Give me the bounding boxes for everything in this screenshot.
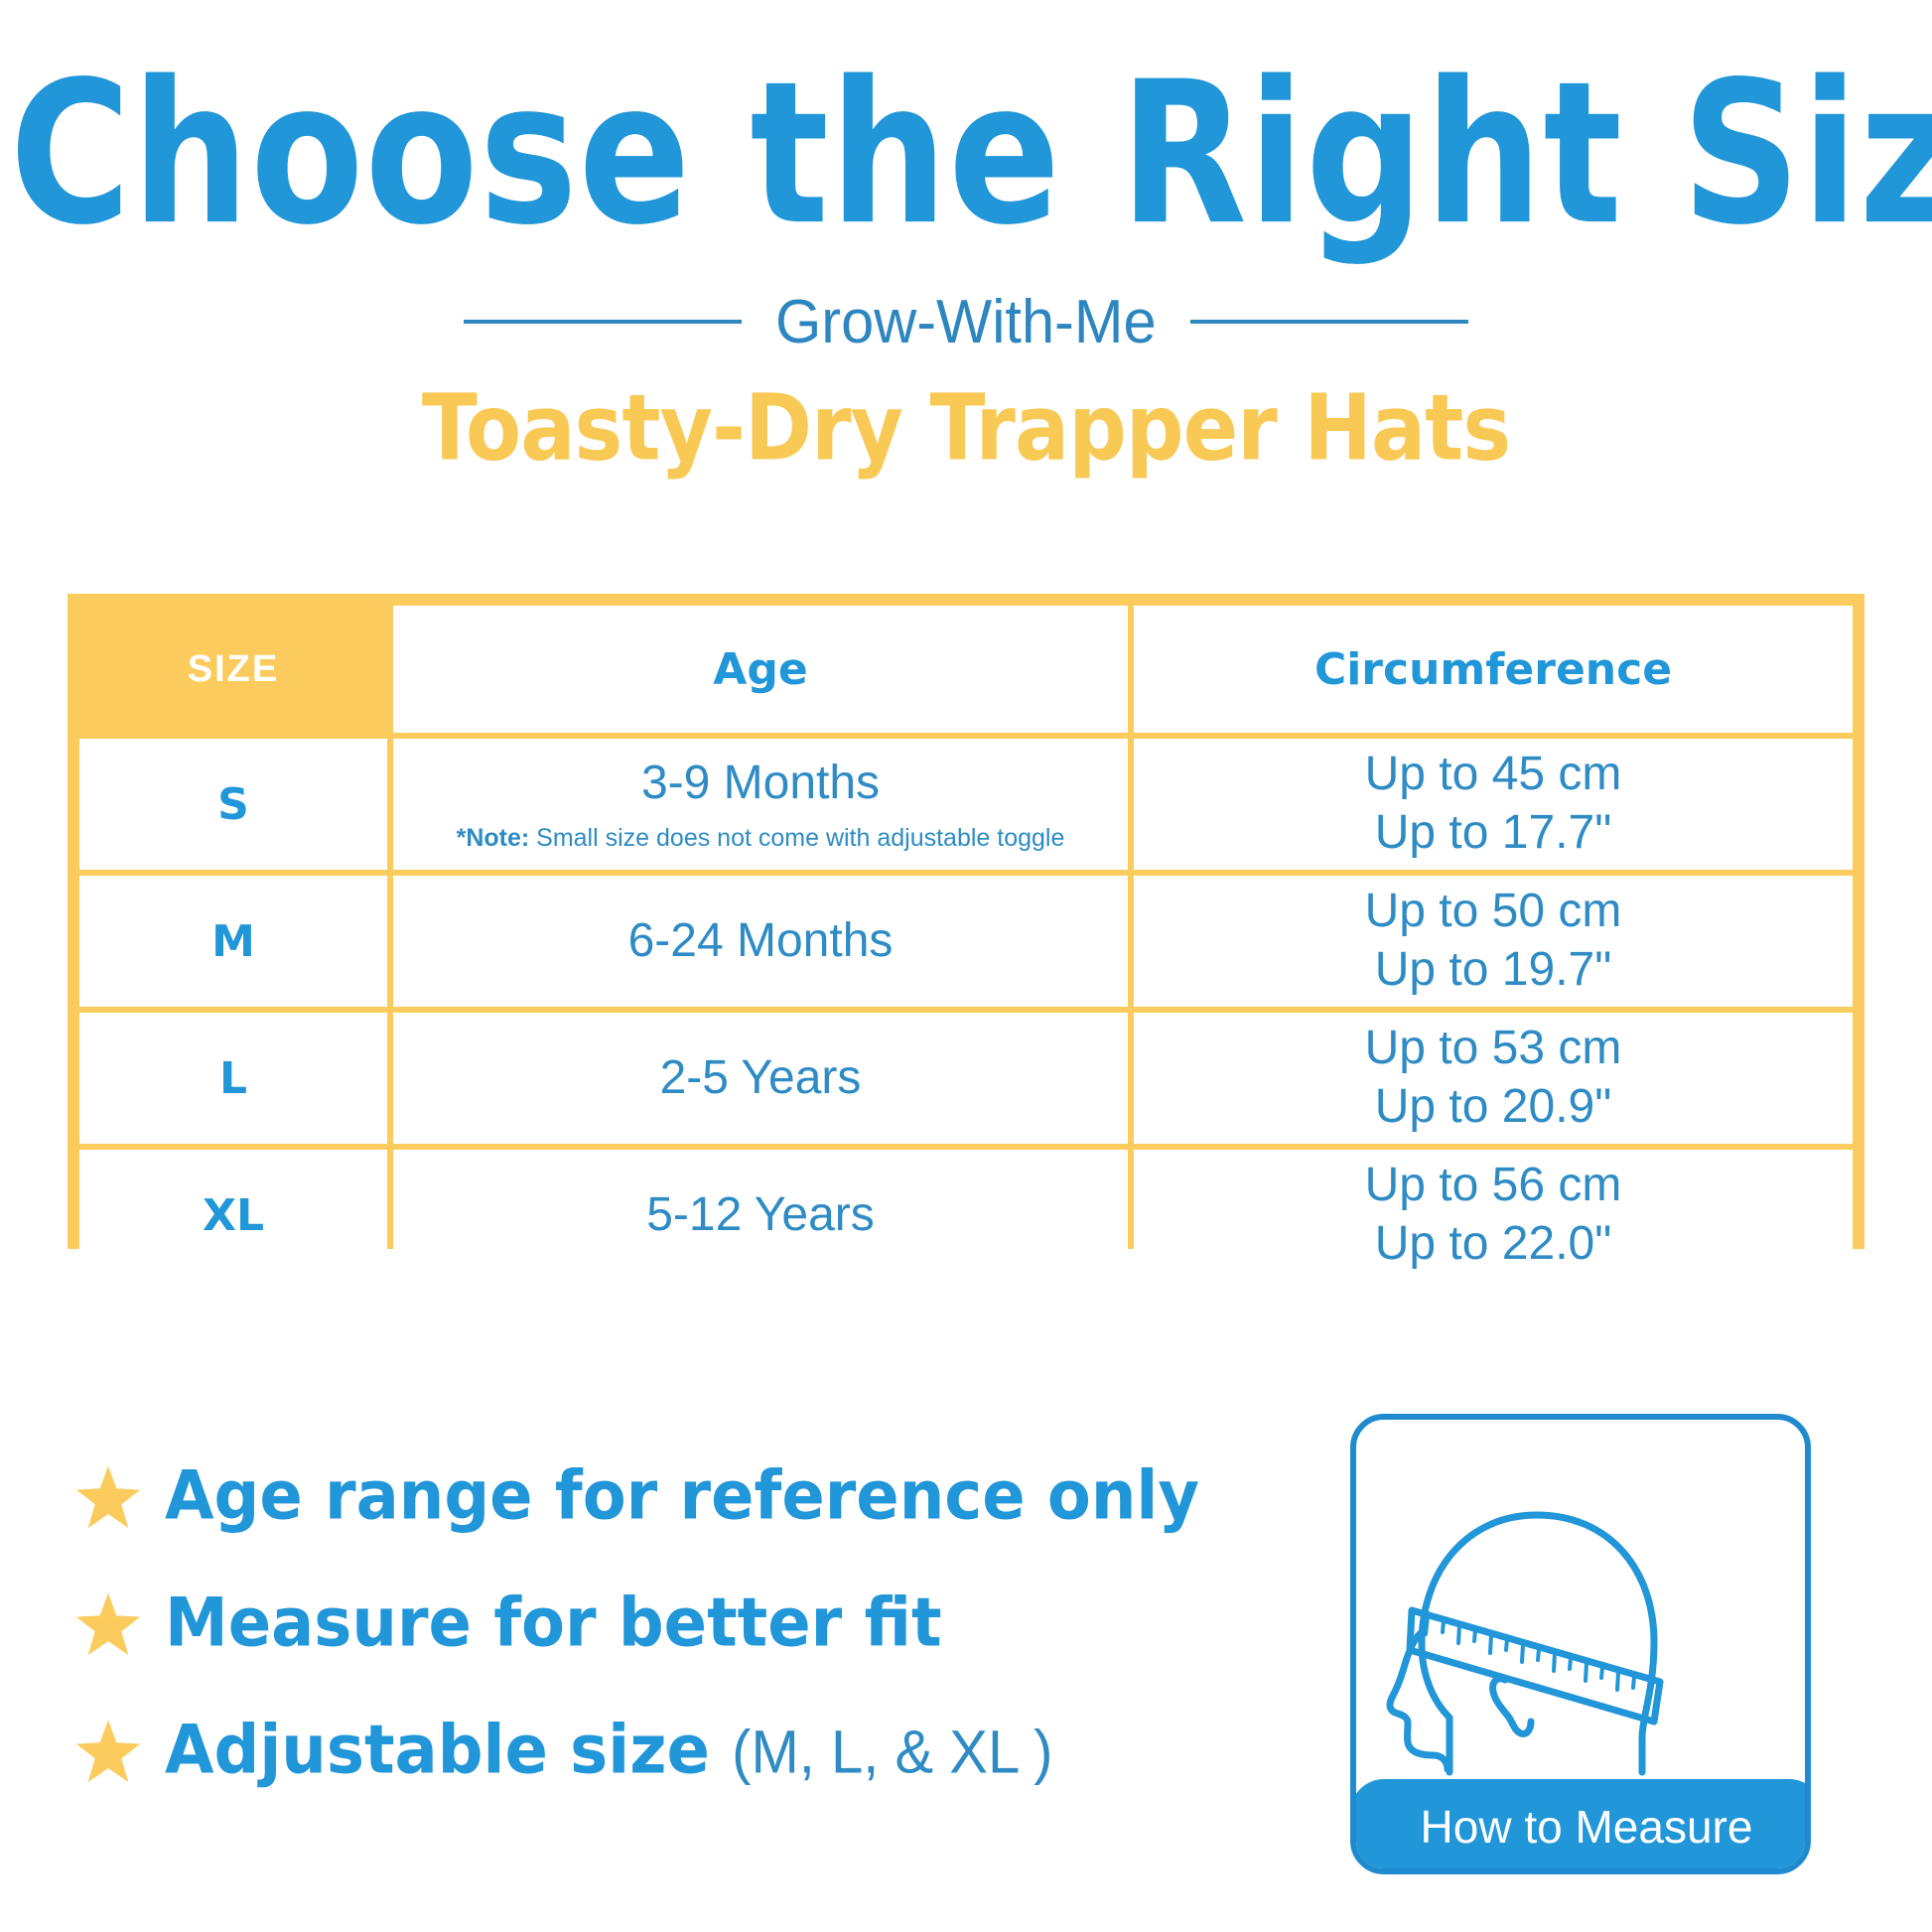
star-icon — [73, 1590, 143, 1660]
star-icon — [73, 1718, 143, 1787]
subtitle: Grow-With-Me — [775, 287, 1157, 357]
age-value: 6-24 Months — [393, 912, 1128, 971]
cell-circumference: Up to 53 cm Up to 20.9" — [1134, 1013, 1853, 1144]
size-table: SIZE Age Circumference S 3-9 Months *Not… — [68, 594, 1864, 1249]
header: Choose the Right Size Grow-With-Me Toast… — [0, 0, 1932, 476]
circumference-in: Up to 19.7" — [1134, 941, 1853, 1000]
cell-age: 5-12 Years — [393, 1150, 1128, 1281]
size-chart-infographic: Choose the Right Size Grow-With-Me Toast… — [0, 0, 1932, 1932]
subtitle-row: Grow-With-Me — [0, 287, 1932, 357]
table-row: M 6-24 Months Up to 50 cm Up to 19.7" — [79, 876, 1853, 1007]
how-to-measure-banner[interactable]: How to Measure — [1350, 1779, 1811, 1874]
list-item-label-main: Adjustable size — [165, 1712, 732, 1789]
list-item-label: Age range for reference only — [165, 1457, 1199, 1535]
age-value: 2-5 Years — [393, 1049, 1128, 1108]
cell-size: S — [79, 739, 387, 870]
size-note: *Note: Small size does not come with adj… — [393, 823, 1128, 854]
star-icon — [73, 1463, 143, 1533]
circumference-in: Up to 22.0" — [1134, 1215, 1853, 1274]
feature-list: Age range for reference only Measure for… — [73, 1459, 1096, 1841]
table-row: L 2-5 Years Up to 53 cm Up to 20.9" — [79, 1013, 1853, 1144]
cell-circumference: Up to 50 cm Up to 19.7" — [1134, 876, 1853, 1007]
how-to-measure-card[interactable]: How to Measure — [1350, 1414, 1811, 1874]
circumference-cm: Up to 56 cm — [1134, 1157, 1853, 1215]
table-row: S 3-9 Months *Note: Small size does not … — [79, 739, 1853, 870]
how-to-measure-label: How to Measure — [1421, 1800, 1753, 1854]
list-item: Age range for reference only — [73, 1459, 1096, 1533]
cell-circumference: Up to 45 cm Up to 17.7" — [1134, 739, 1853, 870]
list-item: Adjustable size (M, L, & XL ) — [73, 1714, 1096, 1787]
cell-size: L — [79, 1013, 387, 1144]
column-header-circumference: Circumference — [1134, 606, 1853, 733]
cell-size: M — [79, 876, 387, 1007]
circumference-cm: Up to 50 cm — [1134, 883, 1853, 941]
circumference-cm: Up to 45 cm — [1134, 746, 1853, 804]
circumference-in: Up to 20.9" — [1134, 1078, 1853, 1137]
note-marker: *Note: — [457, 824, 530, 852]
note-text: Small size does not come with adjustable… — [529, 824, 1064, 852]
table-row: XL 5-12 Years Up to 56 cm Up to 22.0" — [79, 1150, 1853, 1281]
list-item-label-detail: (M, L, & XL ) — [732, 1718, 1052, 1786]
page-title: Choose the Right Size — [10, 52, 1923, 256]
product-title: Toasty-Dry Trapper Hats — [0, 375, 1932, 481]
cell-age: 6-24 Months — [393, 876, 1128, 1007]
list-item-label: Adjustable size (M, L, & XL ) — [165, 1712, 1053, 1789]
column-header-size: SIZE — [79, 606, 387, 733]
cell-age: 2-5 Years — [393, 1013, 1128, 1144]
cell-size: XL — [79, 1150, 387, 1281]
age-value: 3-9 Months — [393, 755, 1128, 813]
list-item-label: Measure for better fit — [165, 1585, 942, 1662]
cell-circumference: Up to 56 cm Up to 22.0" — [1134, 1150, 1853, 1281]
column-header-age: Age — [393, 606, 1128, 733]
divider-line-left — [464, 320, 742, 324]
list-item: Measure for better fit — [73, 1587, 1096, 1660]
circumference-in: Up to 17.7" — [1134, 804, 1853, 863]
cell-age: 3-9 Months *Note: Small size does not co… — [393, 739, 1128, 870]
divider-line-right — [1190, 320, 1468, 324]
head-with-measuring-tape-icon — [1356, 1420, 1811, 1817]
circumference-cm: Up to 53 cm — [1134, 1020, 1853, 1078]
table-header-row: SIZE Age Circumference — [79, 606, 1853, 733]
age-value: 5-12 Years — [393, 1186, 1128, 1245]
